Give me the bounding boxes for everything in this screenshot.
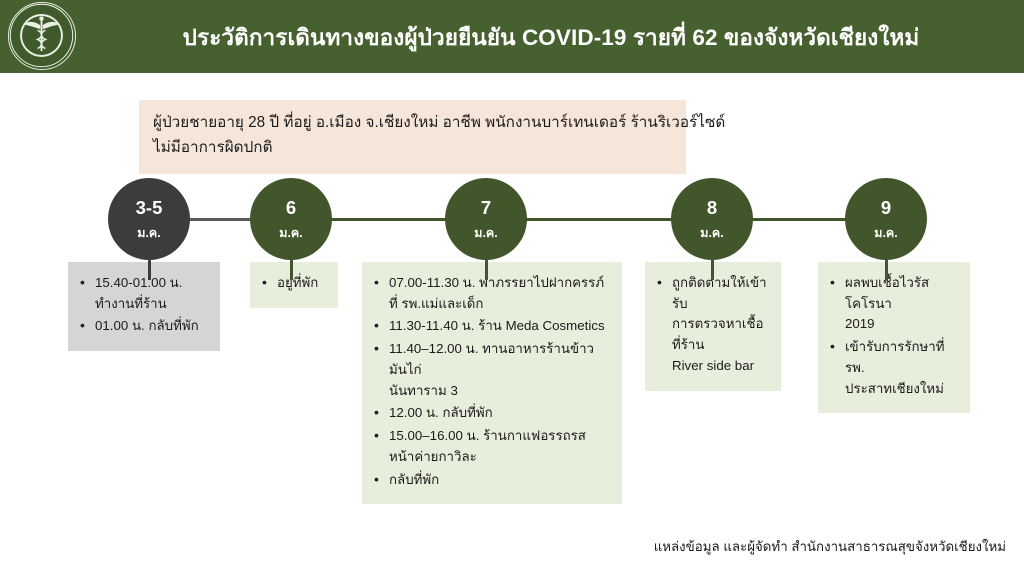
timeline-event-line: ประสาทเชียงใหม่ [845, 379, 958, 400]
timeline-node-6[interactable]: 6ม.ค. [250, 178, 332, 260]
timeline-event-item: เข้ารับการรักษาที่ รพ.ประสาทเชียงใหม่ [828, 337, 958, 399]
patient-summary-line-2: ไม่มีอาการผิดปกติ [153, 136, 672, 161]
timeline-event-line: 11.40–12.00 น. ทานอาหารร้านข้าวมันไก่ [389, 339, 610, 380]
timeline-node-stem [148, 260, 151, 280]
page-title: ประวัติการเดินทางของผู้ป่วยยืนยัน COVID-… [96, 0, 1006, 73]
timeline-node-stem [290, 260, 293, 280]
timeline-event-list: ถูกติดตามให้เข้ารับการตรวจหาเชื้อที่ร้าน… [655, 273, 769, 377]
timeline-event-line: ถูกติดตามให้เข้ารับ [672, 273, 769, 314]
timeline-card: 15.40-01.00 น.ทำงานที่ร้าน01.00 น. กลับท… [68, 262, 220, 351]
timeline-node-month: ม.ค. [279, 227, 303, 240]
patient-summary-box: ผู้ป่วยชายอายุ 28 ปี ที่อยู่ อ.เมือง จ.เ… [139, 100, 686, 174]
timeline-event-line: หน้าค่ายกาวิละ [389, 447, 610, 468]
timeline-event-item: อยู่ที่พัก [260, 273, 326, 294]
timeline-event-item: 15.40-01.00 น.ทำงานที่ร้าน [78, 273, 208, 314]
timeline-card: ผลพบเชื้อไวรัสโคโรนา2019เข้ารับการรักษาท… [818, 262, 970, 413]
timeline-node-day: 3-5 [136, 199, 163, 218]
timeline-node-7[interactable]: 7ม.ค. [445, 178, 527, 260]
timeline-event-item: 11.30-11.40 น. ร้าน Meda Cosmetics [372, 316, 610, 337]
timeline-connector [330, 218, 447, 221]
timeline-event-line: 11.30-11.40 น. ร้าน Meda Cosmetics [389, 316, 610, 337]
timeline-event-item: 15.00–16.00 น. ร้านกาแฟอรรถรสหน้าค่ายกาว… [372, 426, 610, 467]
source-credit: แหล่งข้อมูล และผู้จัดทำ สำนักงานสาธารณสุ… [654, 536, 1006, 557]
timeline-node-day: 6 [286, 199, 296, 218]
timeline-node-day: 9 [881, 199, 891, 218]
timeline-node-month: ม.ค. [474, 227, 498, 240]
patient-summary-line-1: ผู้ป่วยชายอายุ 28 ปี ที่อยู่ อ.เมือง จ.เ… [153, 111, 672, 136]
timeline-node-month: ม.ค. [700, 227, 724, 240]
timeline-event-item: 01.00 น. กลับที่พัก [78, 316, 208, 337]
timeline-event-line: 01.00 น. กลับที่พัก [95, 316, 208, 337]
timeline-node-9[interactable]: 9ม.ค. [845, 178, 927, 260]
timeline-connector [188, 218, 252, 221]
timeline-event-line: ที่ รพ.แม่และเด็ก [389, 294, 610, 315]
timeline-event-line: 07.00-11.30 น. พาภรรยาไปฝากครรภ์ [389, 273, 610, 294]
timeline-event-item: ถูกติดตามให้เข้ารับการตรวจหาเชื้อที่ร้าน… [655, 273, 769, 377]
timeline-event-line: อยู่ที่พัก [277, 273, 326, 294]
timeline-card: ถูกติดตามให้เข้ารับการตรวจหาเชื้อที่ร้าน… [645, 262, 781, 391]
timeline-node-day: 8 [707, 199, 717, 218]
timeline-event-item: กลับที่พัก [372, 470, 610, 491]
timeline-node-month: ม.ค. [874, 227, 898, 240]
timeline-node-stem [711, 260, 714, 280]
timeline-event-item: 07.00-11.30 น. พาภรรยาไปฝากครรภ์ที่ รพ.แ… [372, 273, 610, 314]
timeline-event-item: 11.40–12.00 น. ทานอาหารร้านข้าวมันไก่นัน… [372, 339, 610, 401]
timeline-event-line: River side bar [672, 356, 769, 377]
timeline-node-stem [885, 260, 888, 280]
timeline-connector [751, 218, 847, 221]
timeline-node-month: ม.ค. [137, 227, 161, 240]
timeline-event-line: 15.40-01.00 น. [95, 273, 208, 294]
timeline-card: อยู่ที่พัก [250, 262, 338, 308]
timeline-event-item: ผลพบเชื้อไวรัสโคโรนา2019 [828, 273, 958, 335]
timeline-event-line: 15.00–16.00 น. ร้านกาแฟอรรถรส [389, 426, 610, 447]
timeline-node-3-5[interactable]: 3-5ม.ค. [108, 178, 190, 260]
timeline-event-list: ผลพบเชื้อไวรัสโคโรนา2019เข้ารับการรักษาท… [828, 273, 958, 399]
timeline-event-line: ผลพบเชื้อไวรัสโคโรนา [845, 273, 958, 314]
timeline-event-line: กลับที่พัก [389, 470, 610, 491]
timeline-node-8[interactable]: 8ม.ค. [671, 178, 753, 260]
timeline-event-line: ทำงานที่ร้าน [95, 294, 208, 315]
timeline-card: 07.00-11.30 น. พาภรรยาไปฝากครรภ์ที่ รพ.แ… [362, 262, 622, 504]
timeline-event-item: 12.00 น. กลับที่พัก [372, 403, 610, 424]
ministry-of-public-health-emblem-icon [8, 2, 76, 70]
page-header: ประวัติการเดินทางของผู้ป่วยยืนยัน COVID-… [0, 0, 1024, 73]
timeline-event-list: 15.40-01.00 น.ทำงานที่ร้าน01.00 น. กลับท… [78, 273, 208, 337]
timeline-axis: 3-5ม.ค.6ม.ค.7ม.ค.8ม.ค.9ม.ค. [0, 176, 1024, 266]
timeline-event-line: นันทาราม 3 [389, 381, 610, 402]
timeline-node-day: 7 [481, 199, 491, 218]
timeline-event-line: 12.00 น. กลับที่พัก [389, 403, 610, 424]
timeline-node-stem [485, 260, 488, 280]
timeline-event-line: 2019 [845, 314, 958, 335]
timeline-event-line: เข้ารับการรักษาที่ รพ. [845, 337, 958, 378]
timeline-event-list: 07.00-11.30 น. พาภรรยาไปฝากครรภ์ที่ รพ.แ… [372, 273, 610, 490]
timeline-connector [525, 218, 673, 221]
timeline-event-line: การตรวจหาเชื้อที่ร้าน [672, 314, 769, 355]
timeline-event-list: อยู่ที่พัก [260, 273, 326, 294]
